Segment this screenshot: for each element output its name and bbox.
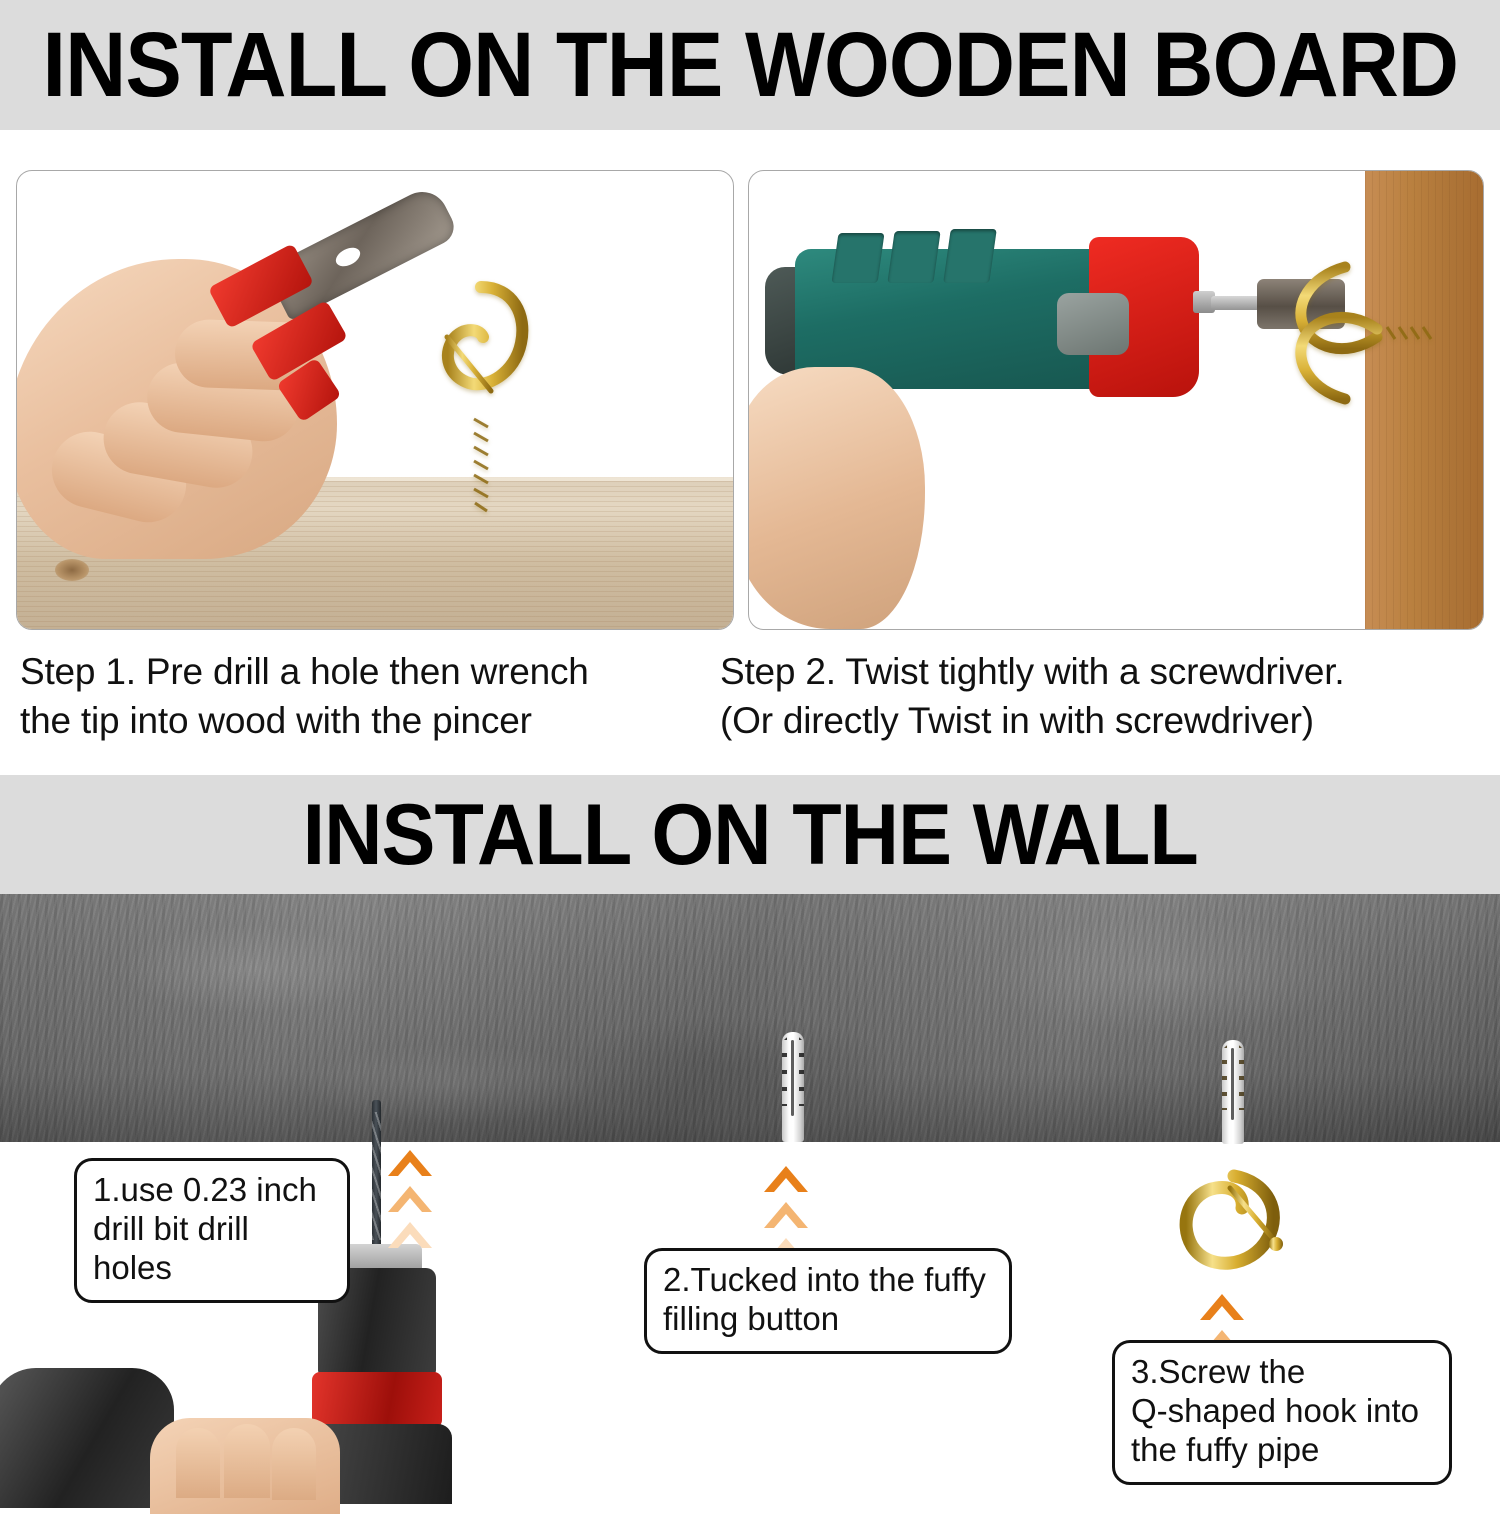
photo-panel-step-2 [748,170,1484,630]
infographic-page: INSTALL ON THE WOODEN BOARD [0,0,1500,1500]
screwdriver-vent-icon [831,233,884,283]
gold-q-hook-icon [417,271,547,571]
photo-panel-row [0,170,1500,640]
concrete-wall-background [0,894,1500,1142]
screwdriver-vent-icon [943,229,997,283]
finger-icon [272,1428,316,1500]
wood-knot-icon [55,559,89,581]
screwdriver-shaft-icon [1211,296,1263,310]
wall-texture-patch [560,1014,900,1124]
gold-q-hook-icon [1269,259,1459,409]
wall-texture-patch [300,1044,600,1124]
cordless-drill-battery-icon [0,1368,174,1508]
callout-step-3: 3.Screw the Q-shaped hook into the fuffy… [1112,1340,1452,1485]
screwdriver-vent-icon [887,231,940,283]
step-2-caption: Step 2. Twist tightly with a screwdriver… [720,648,1490,746]
gold-q-hook-icon [1172,1126,1322,1286]
cordless-drill-red-band-icon [312,1372,442,1428]
wall-texture-patch [980,914,1360,1034]
section-title-wooden-board: INSTALL ON THE WOODEN BOARD [42,19,1458,111]
section-header-wooden-board: INSTALL ON THE WOODEN BOARD [0,0,1500,130]
finger-icon [224,1424,270,1498]
wall-anchor-slot-icon [1231,1048,1234,1120]
photo-panel-step-1 [16,170,734,630]
step-1-caption: Step 1. Pre drill a hole then wrench the… [20,648,710,746]
section-title-wall: INSTALL ON THE WALL [302,792,1197,878]
callout-step-1: 1.use 0.23 inch drill bit drill holes [74,1158,350,1303]
wall-texture-patch [120,924,380,1014]
callout-step-2: 2.Tucked into the fuffy filling button [644,1248,1012,1354]
chevron-up-arrows-group-1 [386,1146,434,1258]
wall-anchor-slot-icon [791,1040,794,1116]
drill-bit-flutes-icon [372,1112,381,1240]
section-header-wall: INSTALL ON THE WALL [0,775,1500,895]
screwdriver-direction-switch[interactable] [1057,293,1129,355]
finger-icon [176,1428,220,1498]
hand-holding-screwdriver [748,367,925,629]
